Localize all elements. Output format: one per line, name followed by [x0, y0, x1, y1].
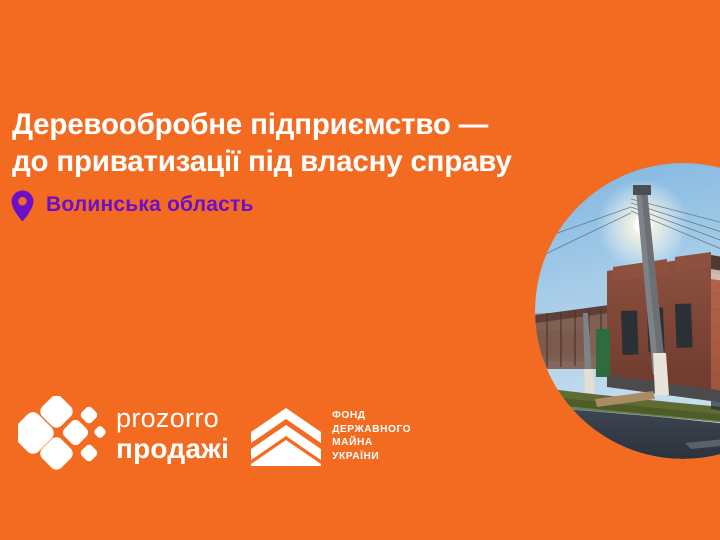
fund-chevron-icon — [251, 406, 321, 466]
headline-line-1: Деревообробне підприємство — — [12, 108, 488, 141]
fund-wordmark: ФОНД ДЕРЖАВНОГО МАЙНА УКРАЇНИ — [332, 409, 411, 463]
map-pin-icon — [11, 190, 34, 221]
location-row: Волинська область — [11, 190, 254, 221]
fund-logo: ФОНД ДЕРЖАВНОГО МАЙНА УКРАЇНИ — [251, 402, 411, 466]
page-title: Деревообробне підприємство — до приватиз… — [12, 106, 572, 180]
fund-wordmark-line-1: ФОНД — [332, 409, 411, 423]
prozorro-wordmark-line-1: prozorro — [116, 405, 229, 432]
prozorro-logo: prozorro продажі — [18, 396, 229, 472]
location-label: Волинська область — [46, 194, 254, 217]
logo-strip: prozorro продажі ФОНД ДЕРЖАВНОГО МАЙНА — [18, 396, 411, 472]
headline-line-2: до приватизації під власну справу — [12, 143, 572, 180]
woodworking-enterprise-photo — [535, 163, 720, 459]
prozorro-wordmark: prozorro продажі — [116, 405, 229, 463]
promo-poster: Деревообробне підприємство — до приватиз… — [0, 0, 720, 540]
fund-wordmark-line-3: МАЙНА — [332, 436, 411, 450]
prozorro-wordmark-line-2: продажі — [116, 435, 229, 463]
prozorro-diamonds-icon — [18, 396, 106, 472]
fund-wordmark-line-2: ДЕРЖАВНОГО — [332, 423, 411, 437]
fund-wordmark-line-4: УКРАЇНИ — [332, 450, 411, 464]
